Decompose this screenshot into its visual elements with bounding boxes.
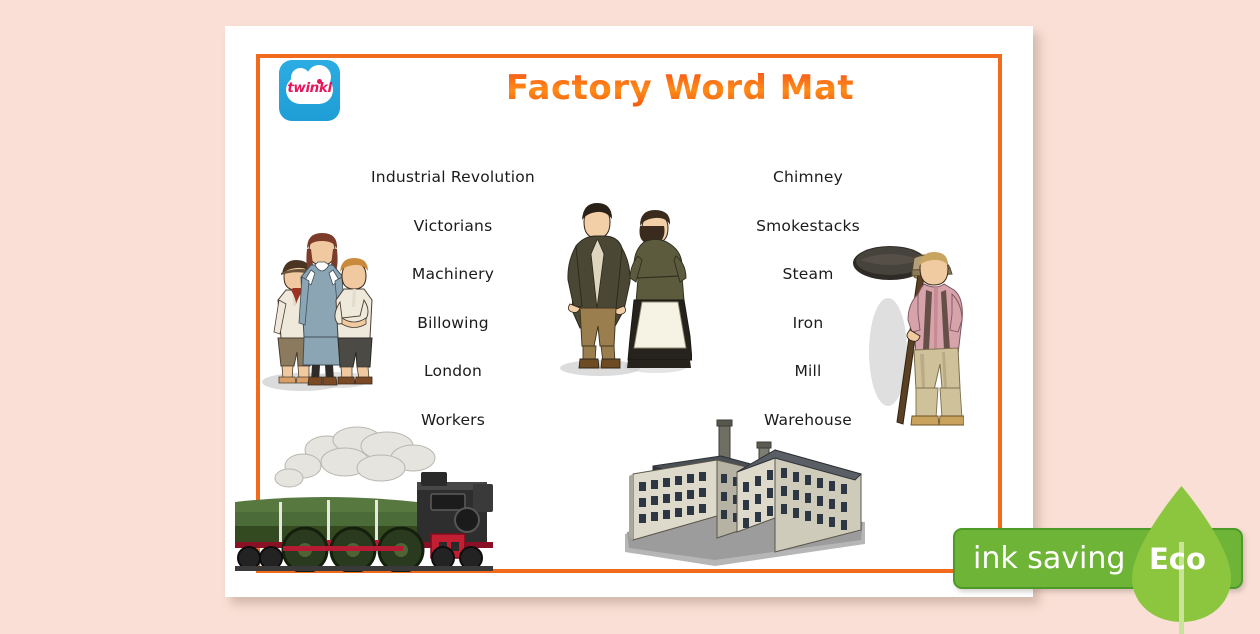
ink-saving-eco-badge: ink saving Eco xyxy=(953,528,1260,589)
eco-label: Eco xyxy=(1149,542,1206,576)
page-title: Factory Word Mat xyxy=(365,68,995,108)
word-item: Mill xyxy=(708,360,908,409)
word-item: Workers xyxy=(353,409,553,458)
victorian-adults-illustration xyxy=(556,196,692,378)
twinkl-logo: twinkl xyxy=(279,60,340,121)
word-item: London xyxy=(353,360,553,409)
word-item: Smokestacks xyxy=(708,215,908,264)
word-item: Industrial Revolution xyxy=(353,166,553,215)
word-item: Victorians xyxy=(353,215,553,264)
sparkle-icon xyxy=(317,79,322,84)
word-item: Iron xyxy=(708,312,908,361)
twinkl-wordmark: twinkl xyxy=(279,80,340,96)
document-page: twinkl Factory Word Mat xyxy=(225,26,1033,597)
word-item: Billowing xyxy=(353,312,553,361)
eco-ink-saving-label: ink saving xyxy=(973,541,1125,576)
word-list-left: Industrial Revolution Victorians Machine… xyxy=(353,166,553,458)
word-item: Warehouse xyxy=(708,409,908,458)
word-list-right: Chimney Smokestacks Steam Iron Mill Ware… xyxy=(708,166,908,458)
word-item: Machinery xyxy=(353,263,553,312)
word-item: Steam xyxy=(708,263,908,312)
word-item: Chimney xyxy=(708,166,908,215)
